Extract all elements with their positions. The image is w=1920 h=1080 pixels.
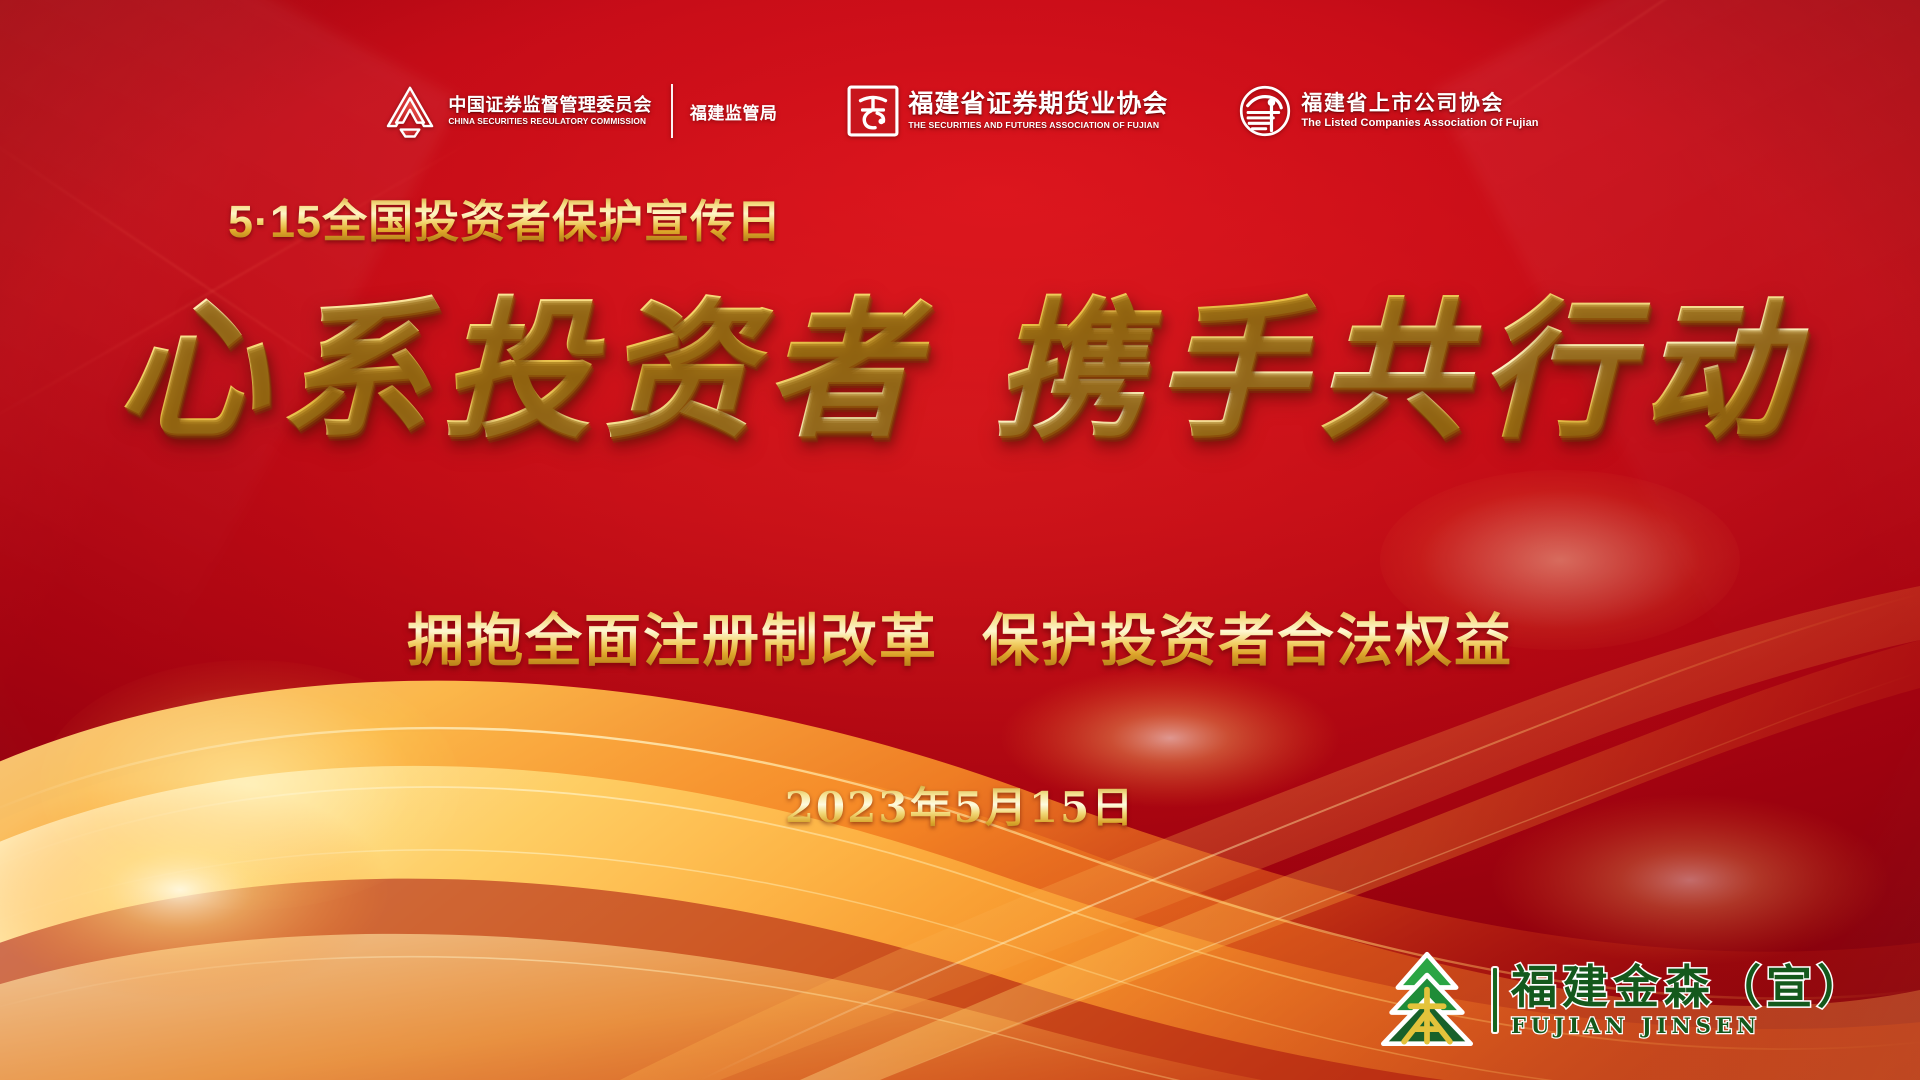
logo-lcaf: 福建省上市公司协会 The Listed Companies Associati… bbox=[1238, 84, 1538, 138]
logo-lcaf-cn: 福建省上市公司协会 bbox=[1301, 93, 1538, 114]
corporate-logo-fujian-jinsen: 福建金森（宣） FUJIAN JINSEN bbox=[1375, 948, 1868, 1052]
corporate-logo-divider bbox=[1493, 968, 1497, 1032]
organizer-logo-row: 中国证券监督管理委员会 CHINA SECURITIES REGULATORY … bbox=[0, 82, 1920, 140]
corporate-logo-text: 福建金森（宣） FUJIAN JINSEN bbox=[1511, 964, 1868, 1036]
csrc-triangle-icon bbox=[381, 82, 439, 140]
logo-sfaf: 福建省证券期货业协会 THE SECURITIES AND FUTURES AS… bbox=[847, 85, 1168, 137]
logo-csrc-cn: 中国证券监督管理委员会 bbox=[448, 96, 652, 114]
main-headline: 心系投资者携手共行动 bbox=[0, 282, 1920, 459]
corporate-name-en: FUJIAN JINSEN bbox=[1511, 1015, 1868, 1036]
logo-sfaf-en: THE SECURITIES AND FUTURES ASSOCIATION O… bbox=[908, 121, 1168, 130]
lcaf-circle-icon bbox=[1238, 84, 1292, 138]
headline-right: 携手共行动 bbox=[993, 282, 1803, 458]
logo-sfaf-text: 福建省证券期货业协会 THE SECURITIES AND FUTURES AS… bbox=[908, 92, 1168, 130]
event-date: 2023年5月15日 bbox=[0, 774, 1920, 835]
headline-left: 心系投资者 bbox=[117, 282, 927, 458]
promotional-banner: 中国证券监督管理委员会 CHINA SECURITIES REGULATORY … bbox=[0, 0, 1920, 1080]
sfaf-seal-icon bbox=[847, 85, 899, 137]
corporate-name-cn: 福建金森（宣） bbox=[1511, 964, 1868, 1010]
logo-sfaf-cn: 福建省证券期货业协会 bbox=[908, 92, 1168, 117]
banner-content: 5·15全国投资者保护宣传日 心系投资者携手共行动 拥抱全面注册制改革保护投资者… bbox=[0, 0, 1920, 1080]
subtitle-right: 保护投资者合法权益 bbox=[982, 609, 1513, 673]
slogan-subtitle: 拥抱全面注册制改革保护投资者合法权益 bbox=[0, 595, 1920, 677]
event-name-eyebrow: 5·15全国投资者保护宣传日 bbox=[228, 185, 782, 250]
logo-lcaf-text: 福建省上市公司协会 The Listed Companies Associati… bbox=[1301, 93, 1538, 129]
logo-csrc: 中国证券监督管理委员会 CHINA SECURITIES REGULATORY … bbox=[381, 82, 777, 140]
logo-lcaf-en: The Listed Companies Association Of Fuji… bbox=[1301, 118, 1538, 129]
logo-csrc-text: 中国证券监督管理委员会 CHINA SECURITIES REGULATORY … bbox=[448, 96, 652, 125]
logo-csrc-en: CHINA SECURITIES REGULATORY COMMISSION bbox=[448, 117, 652, 125]
pine-tree-icon bbox=[1375, 948, 1479, 1052]
logo-csrc-branch: 福建监管局 bbox=[690, 99, 778, 124]
logo-csrc-divider bbox=[671, 84, 673, 138]
subtitle-left: 拥抱全面注册制改革 bbox=[407, 609, 938, 673]
